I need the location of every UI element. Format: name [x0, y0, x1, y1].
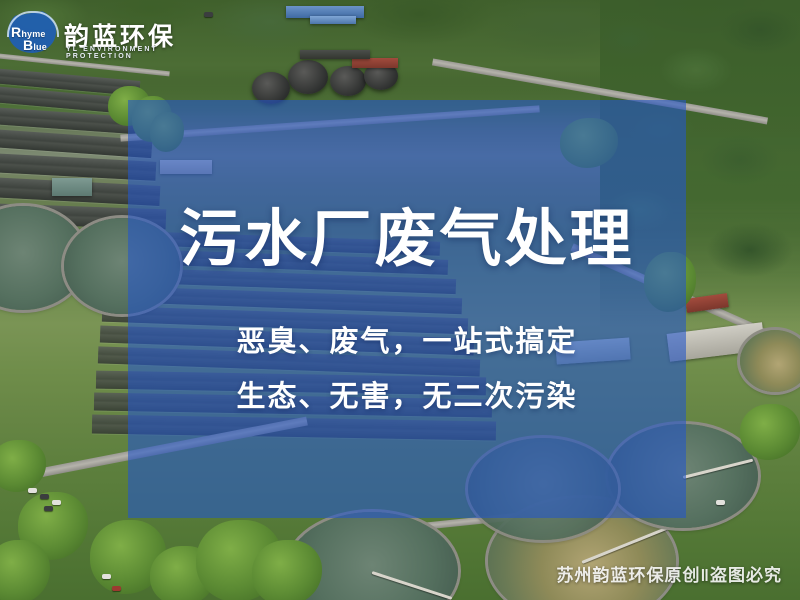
digester-tank — [330, 66, 366, 96]
parked-car — [44, 506, 53, 511]
parked-car — [716, 500, 725, 505]
plant-building — [310, 16, 356, 24]
logo-blue-cap: B — [23, 37, 33, 53]
plant-building — [352, 58, 398, 68]
logo-blue-text: Blue — [23, 37, 47, 53]
page-title: 污水厂废气处理 — [128, 206, 686, 274]
clarifier-bridge — [683, 459, 754, 479]
logo-rhyme-cap: R — [11, 24, 21, 40]
subtitle-line-2: 生态、无害，无二次污染 — [128, 373, 686, 415]
subtitle-line-1: 恶臭、废气，一站式搞定 — [128, 318, 686, 360]
parked-car — [204, 12, 213, 17]
tree-clump — [252, 540, 322, 600]
logo-blue-rest: lue — [33, 42, 47, 52]
copyright-watermark: 苏州韵蓝环保原创‖盗图必究 — [557, 561, 782, 586]
parked-car — [28, 488, 37, 493]
parked-car — [112, 586, 121, 591]
plant-building — [300, 50, 370, 59]
rhyme-blue-circle-icon: Rhyme Blue — [6, 8, 58, 54]
blue-overlay-panel — [128, 100, 686, 518]
parked-car — [52, 500, 61, 505]
parked-car — [102, 574, 111, 579]
brand-name-en: YL ENVIRONMENT PROTECTION — [66, 46, 181, 60]
clarifier-bridge — [372, 571, 453, 600]
brand-logo[interactable]: Rhyme Blue 韵蓝环保 YL ENVIRONMENT PROTECTIO… — [6, 8, 181, 58]
digester-tank — [288, 60, 328, 94]
tree-clump — [0, 540, 50, 600]
plant-building — [52, 178, 92, 196]
parked-car — [40, 494, 49, 499]
banner-image: 污水厂废气处理 恶臭、废气，一站式搞定 生态、无害，无二次污染 Rhyme Bl… — [0, 0, 800, 600]
storage-tank — [740, 330, 800, 392]
clarifier-bridge — [581, 527, 667, 564]
